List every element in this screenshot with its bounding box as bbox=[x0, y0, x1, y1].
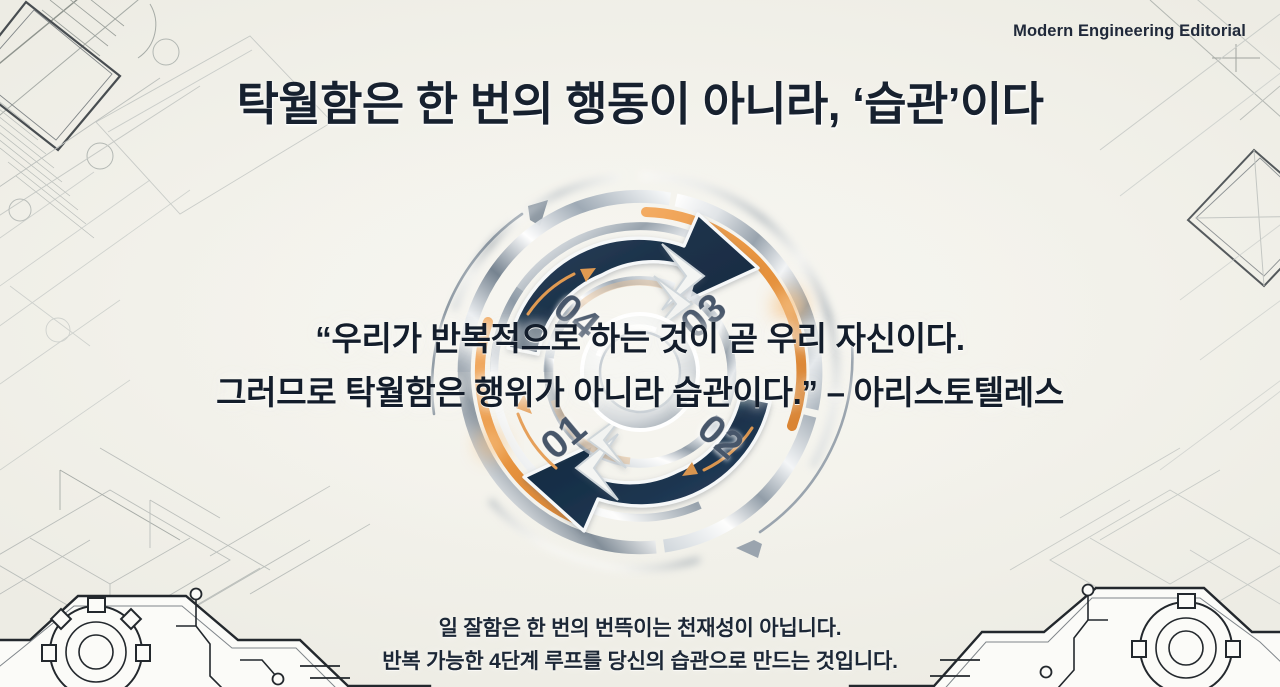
outer-guide-arrowhead-right bbox=[736, 540, 762, 558]
quote-line-2: 그러므로 탁월함은 행위가 아니라 습관이다.” – 아리스토텔레스 bbox=[0, 366, 1280, 420]
caption-line-2: 반복 가능한 4단계 루프를 당신의 습관으로 만드는 것입니다. bbox=[0, 645, 1280, 678]
brand-tag: Modern Engineering Editorial bbox=[1013, 22, 1246, 41]
quote-block: “우리가 반복적으로 하는 것이 곧 우리 자신이다. 그러므로 탁월함은 행위… bbox=[0, 312, 1280, 420]
quote-line-1: “우리가 반복적으로 하는 것이 곧 우리 자신이다. bbox=[0, 312, 1280, 366]
caption-block: 일 잘함은 한 번의 번뜩이는 천재성이 아닙니다. 반복 가능한 4단계 루프… bbox=[0, 612, 1280, 678]
page-title: 탁월함은 한 번의 행동이 아니라, ‘습관’이다 bbox=[0, 68, 1280, 134]
slide-root: Modern Engineering Editorial 탁월함은 한 번의 행… bbox=[0, 0, 1280, 687]
blueprint-top-right bbox=[1100, 0, 1280, 286]
caption-line-1: 일 잘함은 한 번의 번뜩이는 천재성이 아닙니다. bbox=[0, 612, 1280, 645]
